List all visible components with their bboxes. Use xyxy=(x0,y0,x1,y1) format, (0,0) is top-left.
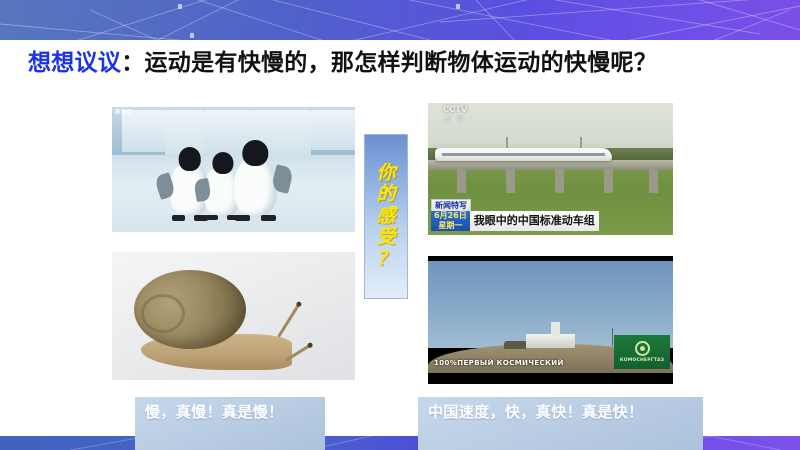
slide-title: 想想议议：运动是有快慢的，那怎样判断物体运动的快慢呢？ xyxy=(28,47,773,80)
viaduct-pier xyxy=(506,169,515,193)
rocket-overlay-caption: 100%ПЕРВЫЙ КОСМИЧЕСКИЙ xyxy=(434,359,564,367)
rocket-video-content: 100%ПЕРВЫЙ КОСМИЧЕСКИЙ КОМОСНЕРГТАЗ xyxy=(428,261,673,373)
news-headline: 我眼中的中国标准动车组 xyxy=(470,211,599,231)
rocket-mast xyxy=(612,328,613,346)
penguin-figure xyxy=(234,140,278,218)
snail-photo[interactable] xyxy=(112,252,355,380)
banner-dot xyxy=(190,33,194,38)
viaduct-pier xyxy=(649,169,658,193)
banner-dot xyxy=(456,4,460,9)
iceberg-shape xyxy=(311,110,355,150)
vertical-prompt-char: ？ xyxy=(376,250,395,269)
slide-title-rest: ：运动是有快慢的，那怎样判断物体运动的快慢呢？ xyxy=(121,50,657,76)
news-date: 6月26日 星期一 xyxy=(431,211,470,231)
high-speed-train xyxy=(435,148,611,161)
slide-title-highlight: 想想议议 xyxy=(28,50,121,76)
vertical-prompt-char: 的 xyxy=(376,185,395,204)
bbc-watermark: BBC xyxy=(115,108,132,116)
viaduct-pier xyxy=(555,169,564,193)
cctv-logo: CCTV 新 闻 xyxy=(433,105,477,122)
rocket-sponsor-badge: КОМОСНЕРГТАЗ xyxy=(614,335,670,369)
caption-fast: 中国速度，快，真快！真是快！ xyxy=(418,397,703,450)
cctv-logo-subtext: 新 闻 xyxy=(433,115,477,125)
rocket-video-frame[interactable]: 100%ПЕРВЫЙ КОСМИЧЕСКИЙ КОМОСНЕРГТАЗ xyxy=(428,256,673,384)
penguin-photo[interactable]: BBC xyxy=(112,107,355,232)
rocket-badge-text: КОМОСНЕРГТАЗ xyxy=(620,358,664,363)
rocket-badge-ring-icon xyxy=(635,341,650,356)
rocket-erector-arm xyxy=(551,322,561,337)
vertical-prompt-char: 受 xyxy=(376,228,395,247)
viaduct-pier xyxy=(457,169,466,193)
news-lower-third: 6月26日 星期一 我眼中的中国标准动车组 xyxy=(431,211,599,231)
vertical-prompt-char: 感 xyxy=(376,207,395,226)
top-decorative-banner xyxy=(0,0,800,40)
snail-tentacle xyxy=(277,304,300,338)
snail-shell xyxy=(134,270,246,349)
vertical-prompt-char: 你 xyxy=(376,164,395,183)
news-date-line1: 6月26日 xyxy=(434,211,467,221)
news-date-line2: 星期一 xyxy=(434,221,467,231)
vertical-prompt-strip: 你 的 感 受 ？ xyxy=(364,134,408,299)
train-video-frame[interactable]: CCTV 新 闻 新闻特写 6月26日 星期一 我眼中的中国标准动车组 xyxy=(428,103,673,235)
caption-slow: 慢，真慢！真是慢！ xyxy=(135,397,325,450)
banner-dot xyxy=(178,4,182,9)
viaduct-pier xyxy=(604,169,613,193)
rocket-transporter-cab xyxy=(504,341,526,350)
cctv-logo-text: CCTV xyxy=(443,105,467,115)
banner-line-pattern xyxy=(0,0,800,40)
